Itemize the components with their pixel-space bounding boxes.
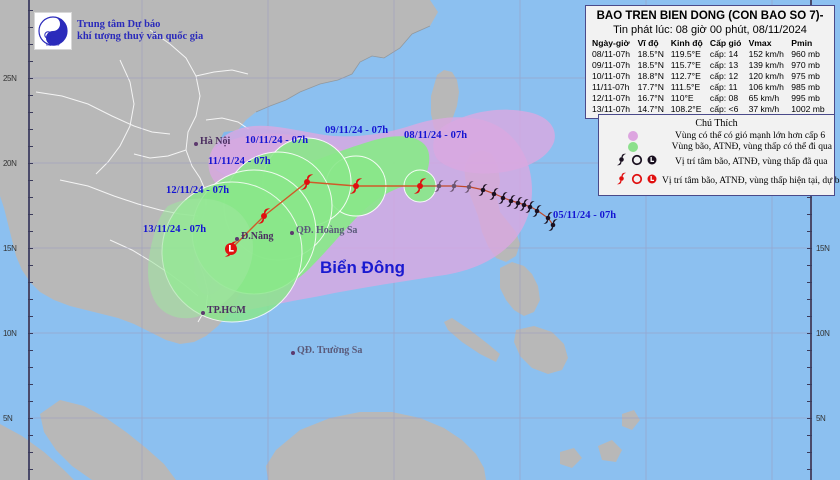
latitude-label: 10N — [3, 329, 16, 338]
forecast-position-icon — [299, 174, 316, 191]
storm-info-title: BAO TREN BIEN DONG (CON BAO SO 7)- — [590, 9, 830, 23]
sea-name-label: Biển Đông — [320, 258, 405, 278]
past-position-icon — [433, 180, 446, 193]
forecast-date-label: 08/11/24 - 07h — [404, 130, 467, 141]
axis-tick — [807, 469, 812, 470]
forecast-cell: 995 mb — [789, 93, 830, 104]
legend-swatch-circle — [628, 142, 638, 152]
legend-item: Vùng có thể có gió mạnh lớn hơn cấp 6 — [615, 131, 832, 141]
forecast-cell: 18.5°N — [636, 49, 669, 60]
forecast-col-header: Vmax — [747, 38, 790, 49]
forecast-date-label: 05/11/24 - 07h — [553, 210, 616, 221]
forecast-cell: 115.7°E — [669, 60, 708, 71]
forecast-table: Ngày-giờVĩ độKinh độCấp gióVmaxPmin 08/1… — [590, 38, 830, 115]
forecast-cell: 111.5°E — [669, 82, 708, 93]
axis-tick — [28, 367, 33, 368]
axis-tick — [807, 418, 812, 419]
axis-tick — [807, 350, 812, 351]
forecast-cell: 970 mb — [789, 60, 830, 71]
axis-tick — [28, 282, 33, 283]
forecast-cell: 985 mb — [789, 82, 830, 93]
latitude-label: 20N — [3, 159, 16, 168]
past-position-icon — [448, 180, 461, 193]
typhoon-forecast-map: 25N20N15N10N5N 25N20N15N10N5N 08/11/24 -… — [0, 0, 840, 480]
city-label: TP.HCM — [207, 305, 246, 316]
axis-tick — [28, 418, 33, 419]
forecast-cell: 10/11-07h — [590, 71, 636, 82]
forecast-col-header: Kinh độ — [669, 38, 708, 49]
latitude-label: 15N — [816, 244, 829, 253]
axis-tick — [807, 248, 812, 249]
forecast-date-label: 10/11/24 - 07h — [245, 135, 308, 146]
latitude-label: 10N — [816, 329, 829, 338]
forecast-cell: 11/11-07h — [590, 82, 636, 93]
forecast-cell: 960 mb — [789, 49, 830, 60]
agency-logo-block: NCHMF Trung tâm Dự báo khí tượng thuỷ vă… — [34, 12, 203, 50]
axis-tick — [28, 95, 33, 96]
forecast-cell: 16.7°N — [636, 93, 669, 104]
legend-item-label: Vị trí tâm bão, ATNĐ, vùng thấp hiện tại… — [662, 176, 840, 186]
axis-tick — [807, 316, 812, 317]
legend-color-swatch — [615, 131, 671, 141]
forecast-cell: cấp: 14 — [708, 49, 747, 60]
legend-typhoon-icon — [615, 172, 628, 190]
forecast-cell: cấp: 12 — [708, 71, 747, 82]
latitude-label: 15N — [3, 244, 16, 253]
legend-current-symbols — [615, 172, 658, 190]
city-marker-dot — [194, 142, 198, 146]
forecast-cell: 09/11-07h — [590, 60, 636, 71]
forecast-cell: 975 mb — [789, 71, 830, 82]
axis-tick — [28, 10, 33, 11]
axis-tick — [28, 401, 33, 402]
axis-tick — [28, 435, 33, 436]
axis-tick — [807, 435, 812, 436]
axis-tick — [28, 180, 33, 181]
city-marker-dot — [235, 237, 239, 241]
legend-past-symbols — [615, 153, 671, 171]
forecast-cell: 110°E — [669, 93, 708, 104]
forecast-col-header: Ngày-giờ — [590, 38, 636, 49]
forecast-cell: 106 km/h — [747, 82, 790, 93]
forecast-date-label: 09/11/24 - 07h — [325, 125, 388, 136]
forecast-cell: 152 km/h — [747, 49, 790, 60]
forecast-cell: 119.5°E — [669, 49, 708, 60]
legend-color-swatch — [615, 142, 668, 152]
latitude-label: 25N — [3, 74, 16, 83]
axis-tick — [28, 44, 33, 45]
legend-item: Vị trí tâm bão, ATNĐ, vùng thấp đã qua — [615, 153, 832, 171]
agency-name-line1: Trung tâm Dự báo — [77, 19, 203, 32]
axis-tick — [807, 265, 812, 266]
forecast-cell: 18.5°N — [636, 60, 669, 71]
legend-title: Chú Thích — [601, 118, 832, 129]
axis-tick — [807, 214, 812, 215]
axis-tick — [28, 350, 33, 351]
axis-tick — [28, 146, 33, 147]
agency-name-line2: khí tượng thuỷ văn quốc gia — [77, 31, 203, 44]
forecast-cell: cấp: 13 — [708, 60, 747, 71]
forecast-date-label: 12/11/24 - 07h — [166, 185, 229, 196]
city-label: Đ.Nẵng — [241, 231, 274, 242]
legend-depression-icon — [631, 153, 643, 171]
past-position-icon — [463, 181, 476, 194]
legend-item: Vùng bão, ATNĐ, vùng thấp có thể đi qua — [615, 142, 832, 152]
forecast-cell: 120 km/h — [747, 71, 790, 82]
axis-tick — [28, 112, 33, 113]
forecast-cell: 65 km/h — [747, 93, 790, 104]
legend-item-label: Vùng có thể có gió mạnh lớn hơn cấp 6 — [675, 131, 825, 141]
axis-tick — [28, 163, 33, 164]
axis-tick — [28, 469, 33, 470]
legend-depression-icon — [631, 172, 643, 190]
axis-tick — [28, 316, 33, 317]
axis-tick — [28, 27, 33, 28]
nchmf-logo-icon: NCHMF — [34, 12, 72, 50]
legend-rows: Vùng có thể có gió mạnh lớn hơn cấp 6Vùn… — [601, 131, 832, 190]
forecast-cell: 18.8°N — [636, 71, 669, 82]
city-marker-dot — [290, 231, 294, 235]
city-label: QĐ. Trường Sa — [297, 345, 362, 356]
forecast-table-row: 10/11-07h18.8°N112.7°Ecấp: 12120 km/h975… — [590, 71, 830, 82]
axis-tick — [28, 452, 33, 453]
legend-typhoon-icon — [615, 153, 628, 171]
city-label: Hà Nội — [200, 136, 230, 147]
storm-info-panel: BAO TREN BIEN DONG (CON BAO SO 7)- Tin p… — [585, 5, 835, 119]
axis-tick — [28, 197, 33, 198]
axis-tick — [28, 61, 33, 62]
forecast-col-header: Cấp gió — [708, 38, 747, 49]
axis-tick — [28, 333, 33, 334]
legend-panel: Chú Thích Vùng có thể có gió mạnh lớn hơ… — [598, 114, 835, 196]
logo-acronym: NCHMF — [46, 42, 61, 47]
forecast-cell: 12/11-07h — [590, 93, 636, 104]
forecast-cell: 139 km/h — [747, 60, 790, 71]
axis-tick — [807, 452, 812, 453]
axis-tick — [28, 248, 33, 249]
city-label: QĐ. Hoàng Sa — [296, 225, 357, 236]
axis-tick — [807, 197, 812, 198]
axis-tick — [28, 231, 33, 232]
forecast-cell: 112.7°E — [669, 71, 708, 82]
legend-item-label: Vị trí tâm bão, ATNĐ, vùng thấp đã qua — [675, 157, 828, 167]
forecast-cell: 17.7°N — [636, 82, 669, 93]
axis-tick — [807, 401, 812, 402]
axis-tick — [28, 265, 33, 266]
forecast-col-header: Vĩ độ — [636, 38, 669, 49]
forecast-date-label: 11/11/24 - 07h — [208, 156, 271, 167]
city-marker-dot — [201, 311, 205, 315]
latitude-label: 5N — [3, 414, 12, 423]
axis-tick — [28, 129, 33, 130]
forecast-cell: cấp: 08 — [708, 93, 747, 104]
agency-name: Trung tâm Dự báo khí tượng thuỷ văn quốc… — [77, 19, 203, 44]
forecast-table-body: 08/11-07h18.5°N119.5°Ecấp: 14152 km/h960… — [590, 49, 830, 115]
axis-tick — [807, 299, 812, 300]
forecast-cell: 08/11-07h — [590, 49, 636, 60]
legend-swatch-circle — [628, 131, 638, 141]
city-marker-dot — [291, 351, 295, 355]
legend-item: Vị trí tâm bão, ATNĐ, vùng thấp hiện tại… — [615, 172, 832, 190]
forecast-table-row: 08/11-07h18.5°N119.5°Ecấp: 14152 km/h960… — [590, 49, 830, 60]
forecast-table-row: 12/11-07h16.7°N110°Ecấp: 0865 km/h995 mb — [590, 93, 830, 104]
forecast-date-label: 13/11/24 - 07h — [143, 224, 206, 235]
forecast-col-header: Pmin — [789, 38, 830, 49]
axis-frame-left — [28, 0, 30, 480]
forecast-cell: cấp: 11 — [708, 82, 747, 93]
legend-low-icon — [646, 172, 658, 190]
forecast-position-icon — [256, 208, 273, 225]
axis-tick — [807, 231, 812, 232]
axis-tick — [807, 333, 812, 334]
forecast-position-icon — [348, 178, 365, 195]
forecast-table-header: Ngày-giờVĩ độKinh độCấp gióVmaxPmin — [590, 38, 830, 49]
forecast-position-icon — [412, 178, 429, 195]
storm-issued-time: Tin phát lúc: 08 giờ 00 phút, 08/11/2024 — [590, 23, 830, 38]
legend-low-icon — [646, 153, 658, 171]
axis-tick — [28, 299, 33, 300]
legend-item-label: Vùng bão, ATNĐ, vùng thấp có thể đi qua — [672, 142, 832, 152]
forecast-table-row: 09/11-07h18.5°N115.7°Ecấp: 13139 km/h970… — [590, 60, 830, 71]
axis-tick — [28, 78, 33, 79]
axis-tick — [807, 384, 812, 385]
axis-tick — [807, 282, 812, 283]
forecast-table-row: 11/11-07h17.7°N111.5°Ecấp: 11106 km/h985… — [590, 82, 830, 93]
forecast-low-pressure-icon — [223, 241, 239, 257]
axis-tick — [807, 367, 812, 368]
axis-tick — [28, 214, 33, 215]
latitude-label: 5N — [816, 414, 825, 423]
axis-tick — [28, 384, 33, 385]
